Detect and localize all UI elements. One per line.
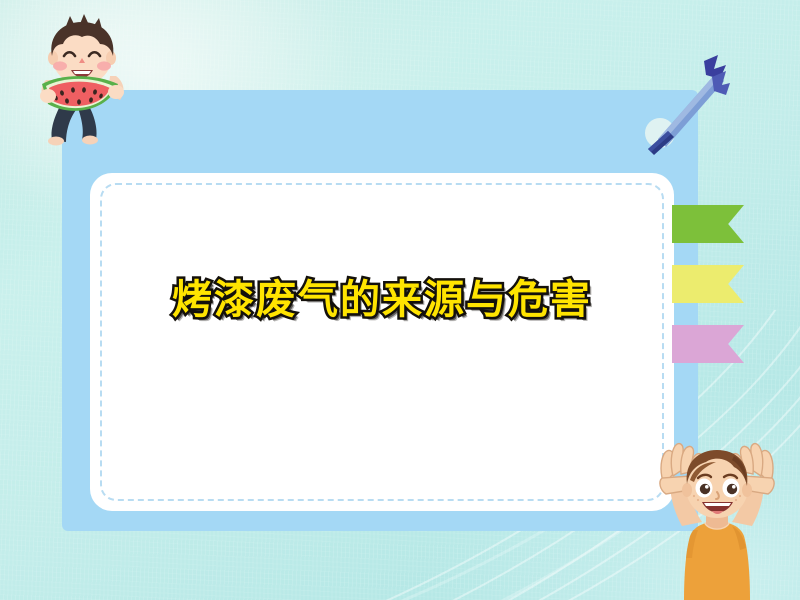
ribbon-yellow-body — [672, 265, 744, 303]
slide-canvas: 烤漆废气的来源与危害 — [0, 0, 800, 600]
ribbon-yellow — [672, 265, 744, 303]
ribbon-pink — [672, 325, 744, 363]
dashed-border — [100, 183, 664, 501]
ribbon-pink-body — [672, 325, 744, 363]
page-title-container: 烤漆废气的来源与危害 — [90, 265, 674, 327]
page-title: 烤漆废气的来源与危害 — [172, 267, 592, 325]
ribbon-green — [672, 205, 744, 243]
ribbon-green-body — [672, 205, 744, 243]
white-dashed-card — [90, 173, 674, 511]
